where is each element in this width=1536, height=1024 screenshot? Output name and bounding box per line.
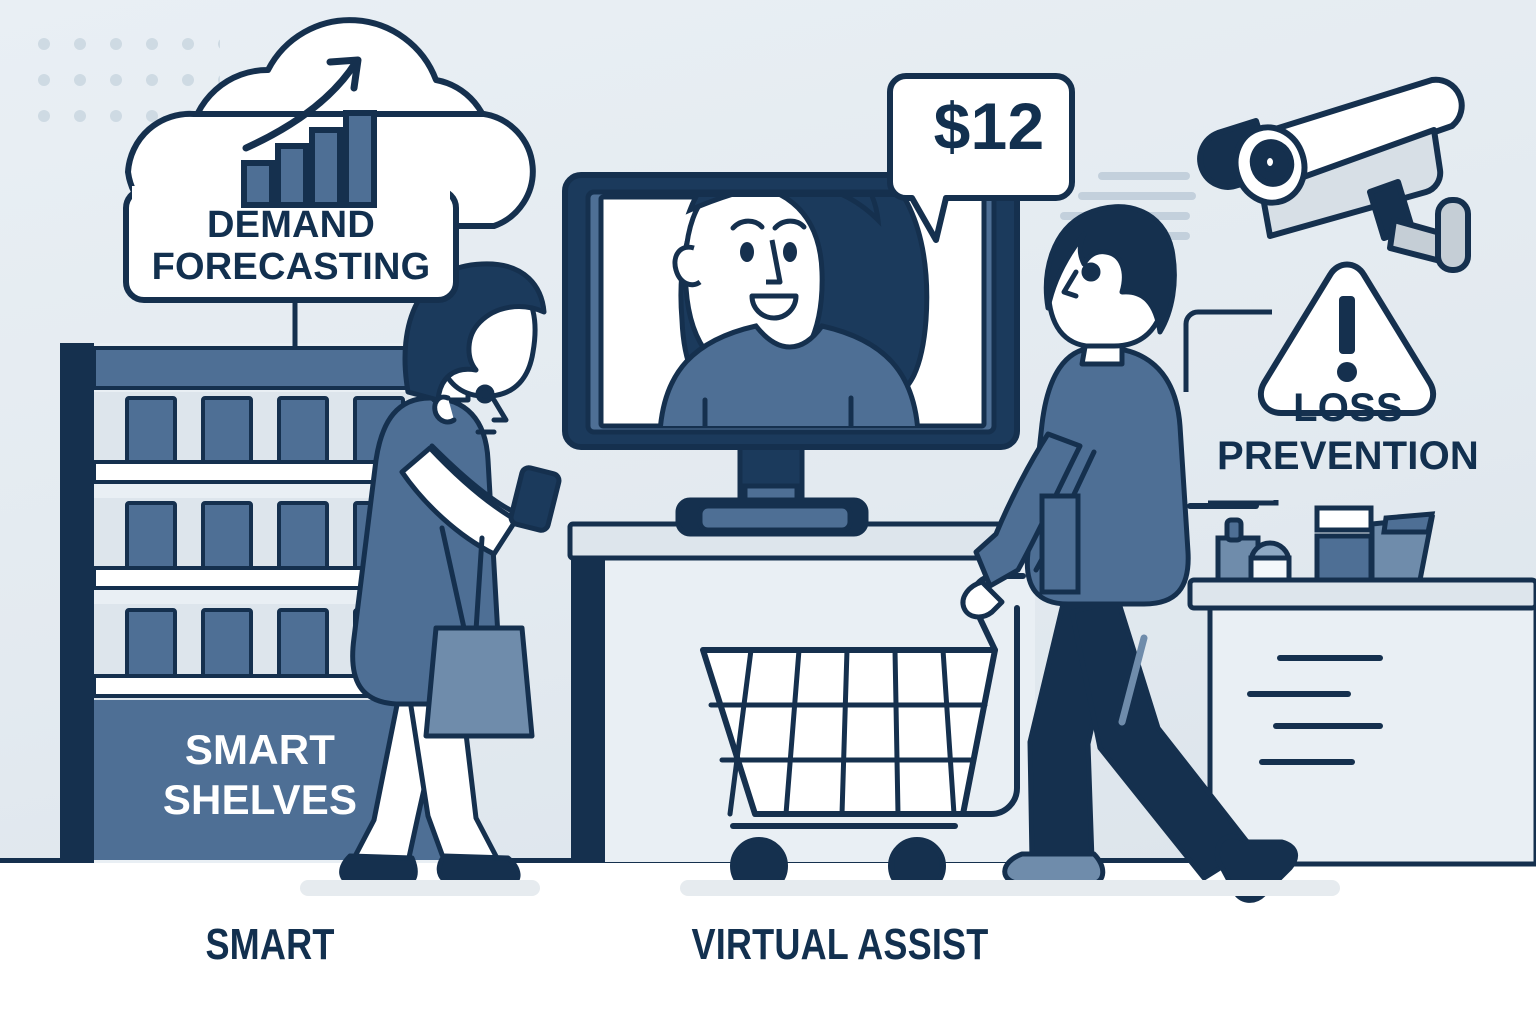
checkout-counter — [1190, 580, 1536, 864]
loss-prevention-line2: PREVENTION — [1180, 434, 1516, 479]
price-bubble-value: $12 — [906, 88, 1072, 164]
caption-smart: SMART — [147, 920, 393, 970]
cloud-label-line2: FORECASTING — [120, 246, 462, 289]
shelf-sign-line2: SHELVES — [110, 776, 410, 824]
scene-svg — [0, 0, 1536, 1024]
illustration-canvas: DEMAND FORECASTING SMART SHELVES $12 LOS… — [0, 0, 1536, 1024]
loss-prevention-line1: LOSS — [1190, 386, 1506, 431]
shelf-sign-line1: SMART — [110, 726, 410, 774]
ground-shadows — [300, 880, 1340, 896]
cloud-label-line1: DEMAND — [126, 204, 456, 247]
caption-virtual-assist: VIRTUAL ASSIST — [660, 920, 1021, 970]
counter-item-behind — [1042, 496, 1078, 592]
